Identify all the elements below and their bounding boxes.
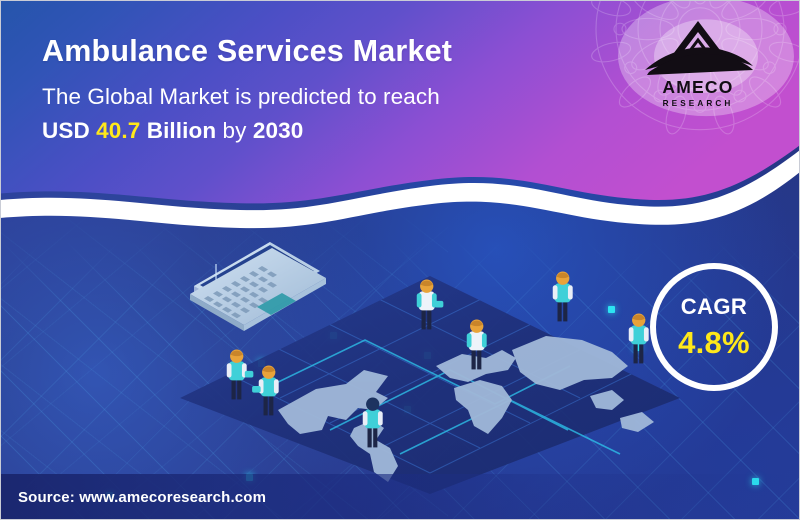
logo-tagline: RESEARCH [632,100,764,108]
cagr-badge: CAGR 4.8% [650,263,778,391]
currency-label: USD [42,118,90,143]
subtitle-line-1: The Global Market is predicted to reach [42,84,602,110]
forecast-year: 2030 [253,118,303,143]
infographic-canvas: Ambulance Services Market The Global Mar… [0,0,800,520]
cagr-value: 4.8% [678,327,750,358]
ameco-research-logo[interactable]: AMECO RESEARCH [632,18,764,110]
unit-label: Billion [147,118,216,143]
headline-block: Ambulance Services Market The Global Mar… [42,34,602,144]
footer-bar: Source: www.amecoresearch.com [0,474,800,520]
map-figure [629,314,649,364]
logo-triangle-swoosh-icon [639,18,757,78]
by-label: by [223,118,247,143]
source-text: Source: www.amecoresearch.com [18,489,266,506]
subtitle-line-2: USD 40.7 Billion by 2030 [42,118,602,144]
page-title: Ambulance Services Market [42,34,602,68]
cagr-label: CAGR [681,296,747,318]
logo-name: AMECO [632,79,764,97]
market-value: 40.7 [96,118,140,143]
